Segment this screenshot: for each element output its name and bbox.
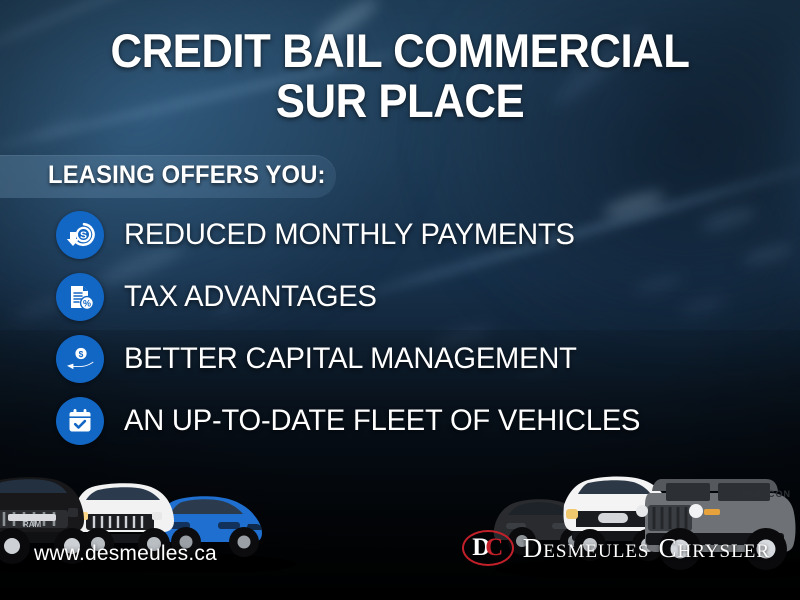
dealership-logo[interactable]: DC DesmeulesChrysler [462,526,770,570]
benefit-label: TAX ADVANTAGES [124,280,377,314]
svg-text:$: $ [79,349,84,359]
benefit-item: % TAX ADVANTAGES [56,273,656,321]
vehicle-lineup: RAM [0,430,800,600]
svg-text:%: % [83,298,91,308]
benefits-list: S REDUCED MONTHLY PAYMENTS % [56,211,656,459]
document-percent-icon: % [56,273,104,321]
benefit-label: BETTER CAPITAL MANAGEMENT [124,342,577,376]
promotional-banner: CREDIT BAIL COMMERCIAL SUR PLACE LEASING… [0,0,800,600]
headline-line-2: SUR PLACE [28,76,772,126]
benefit-item: S REDUCED MONTHLY PAYMENTS [56,211,656,259]
svg-text:RUBICON: RUBICON [742,489,791,499]
logo-letters: DC [462,530,514,566]
svg-text:RAM: RAM [23,520,42,529]
money-down-arrow-icon: S [56,211,104,259]
svg-text:S: S [80,230,87,242]
dc-monogram-icon: DC [462,530,514,566]
logo-letter-c: C [485,530,503,566]
logo-letter-d: D [472,530,486,566]
benefit-item: $ BETTER CAPITAL MANAGEMENT [56,335,656,383]
headline: CREDIT BAIL COMMERCIAL SUR PLACE [28,26,772,126]
benefit-label: REDUCED MONTHLY PAYMENTS [124,218,575,252]
leasing-banner-label: LEASING OFFERS YOU: [48,161,326,190]
headline-line-1: CREDIT BAIL COMMERCIAL [110,24,689,77]
website-url[interactable]: www.desmeules.ca [34,542,217,566]
logo-word-desmeules: Desmeules [523,533,650,563]
hand-holding-coin-icon: $ [56,335,104,383]
logo-wordmark: DesmeulesChrysler [523,533,770,564]
logo-word-chrysler: Chrysler [658,533,770,563]
